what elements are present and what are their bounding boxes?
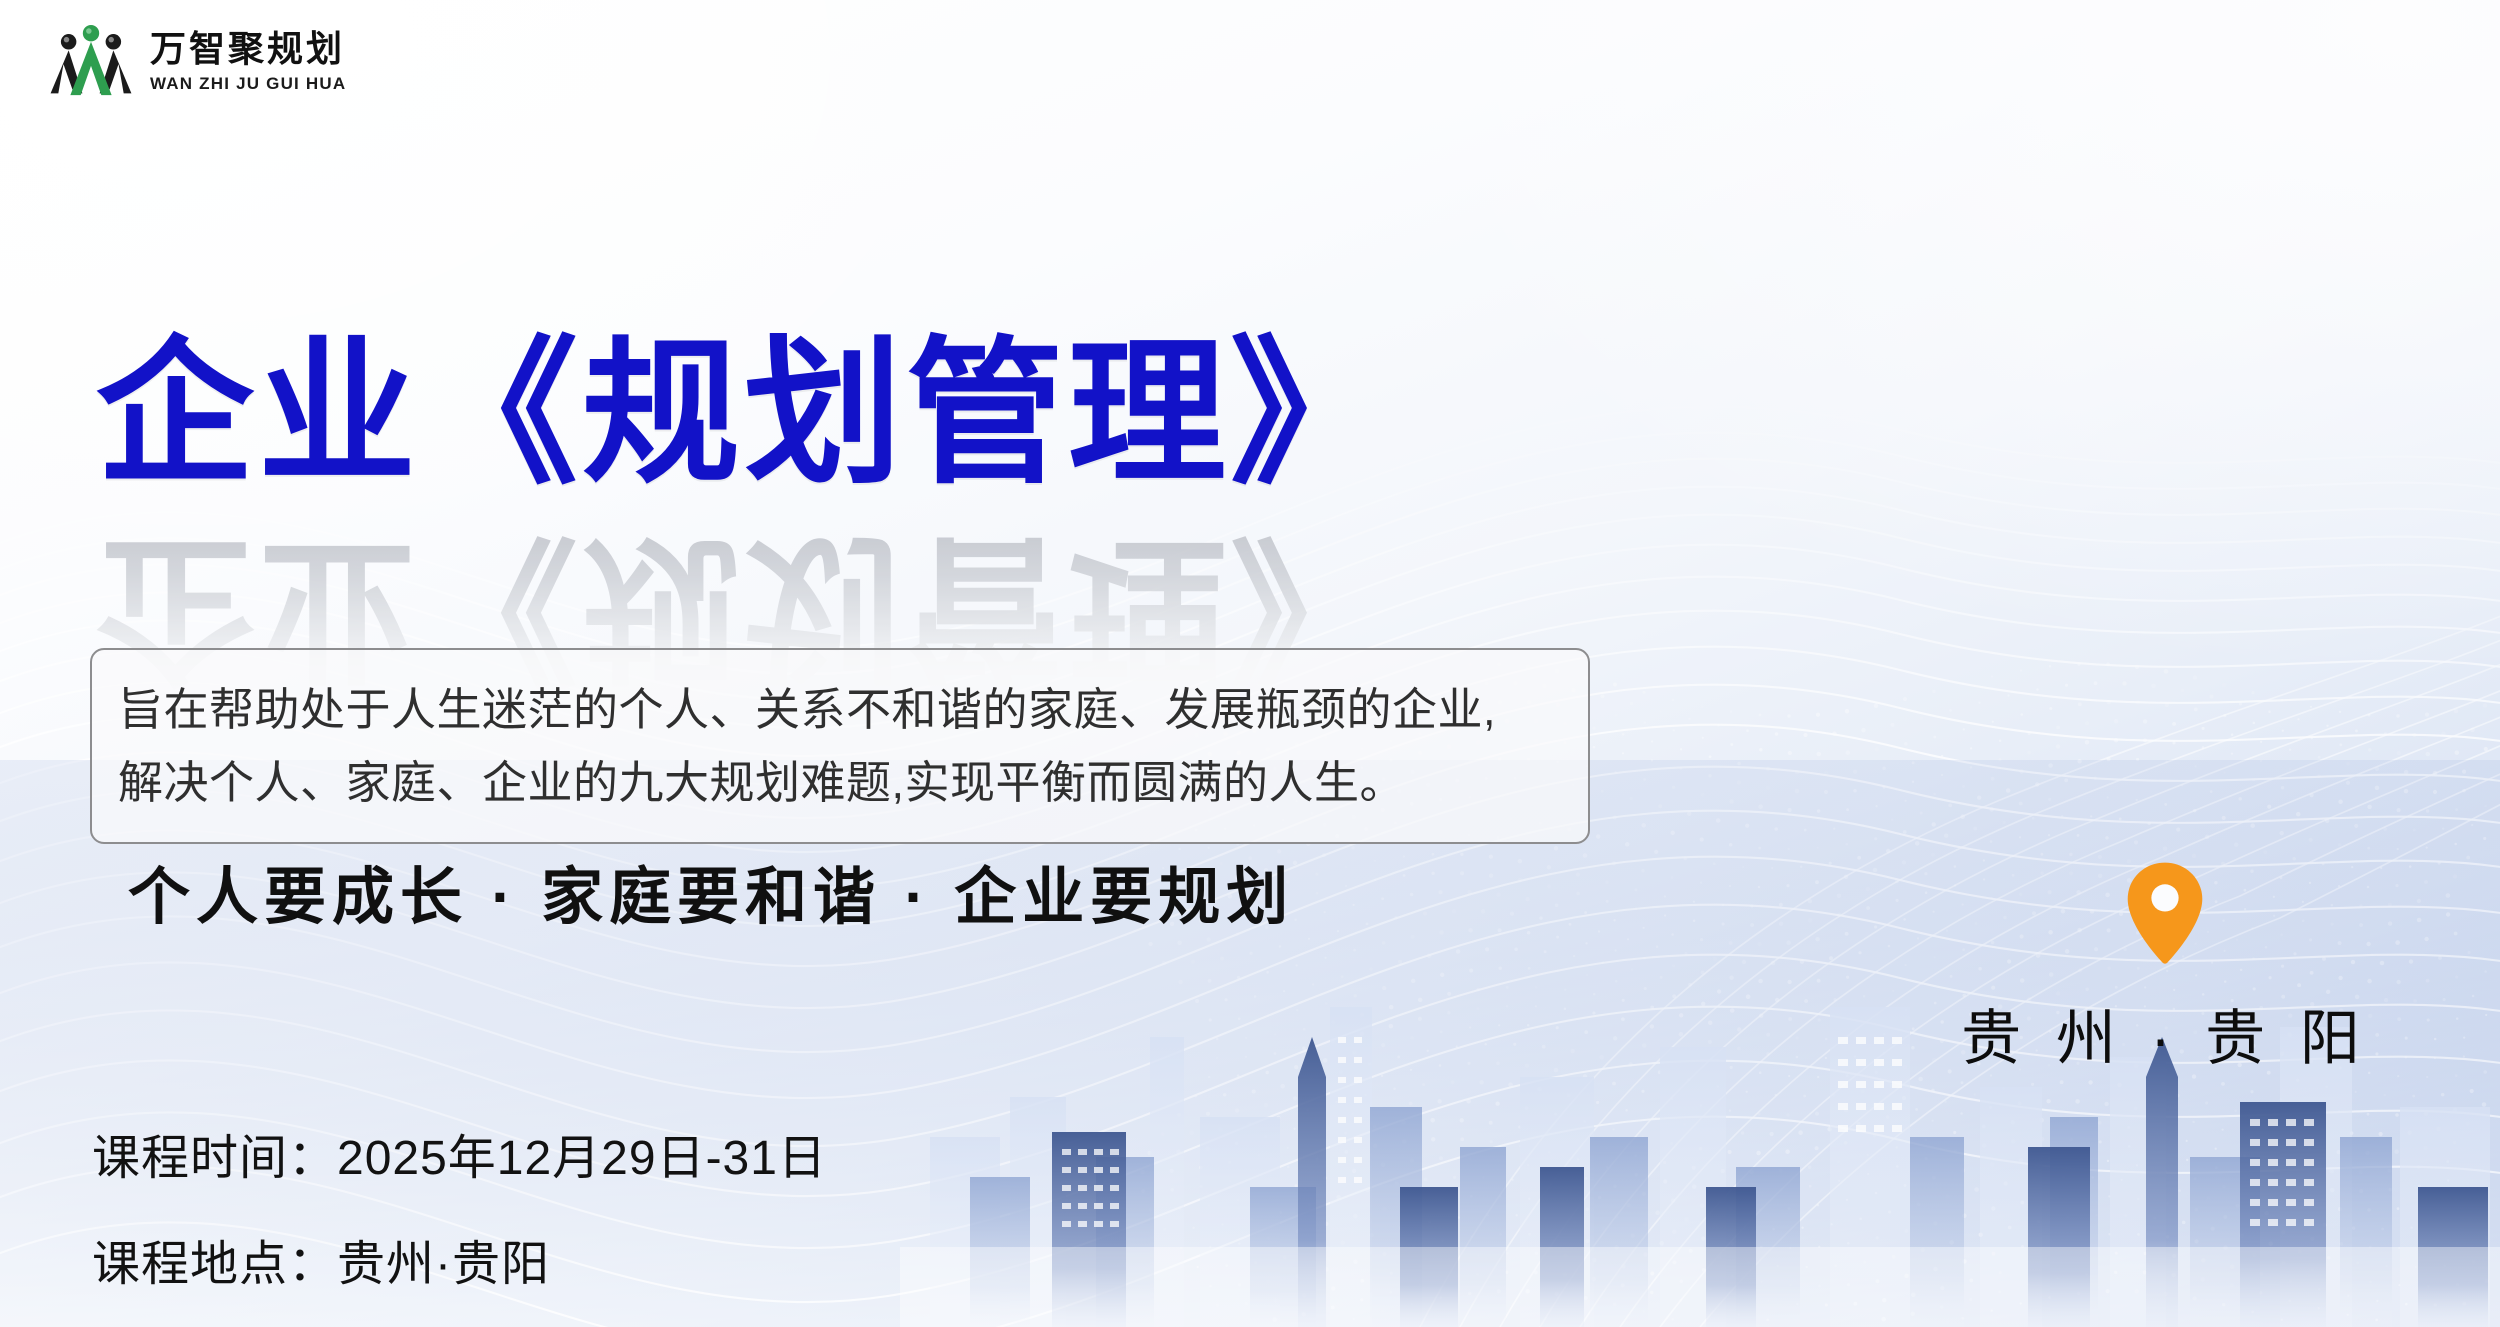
description-line-2: 解决个人、家庭、企业的九大规划难题,实现平衡而圆满的人生。 (118, 747, 1562, 820)
brand-name-en: WAN ZHI JU GUI HUA (150, 75, 346, 92)
course-place: 课程地点：贵州·贵阳 (92, 1224, 827, 1294)
slogan-text: 个人要成长 · 家庭要和谐 · 企业要规划 (128, 846, 1294, 936)
brand-logo-text: 万智聚规划 WAN ZHI JU GUI HUA (150, 27, 346, 92)
course-time: 课程时间：2025年12月29日-31日 (92, 1118, 827, 1188)
description-line-1: 旨在帮助处于人生迷茫的个人、关系不和谐的家庭、发展瓶颈的企业, (118, 674, 1562, 747)
brand-name-cn: 万智聚规划 (150, 31, 346, 67)
hero-title-block: 企业《规划管理》 企业《规划管理》 (96, 318, 1656, 648)
description-box: 旨在帮助处于人生迷茫的个人、关系不和谐的家庭、发展瓶颈的企业, 解决个人、家庭、… (90, 648, 1590, 844)
course-meta: 课程时间：2025年12月29日-31日 课程地点：贵州·贵阳 (92, 1118, 827, 1294)
poster-canvas: 万智聚规划 WAN ZHI JU GUI HUA 企业《规划管理》 企业《规划管… (0, 0, 2500, 1327)
location-label: 贵 州 · 贵 阳 (1961, 990, 2369, 1077)
brand-logo[interactable]: 万智聚规划 WAN ZHI JU GUI HUA (48, 16, 346, 102)
location-badge: 贵 州 · 贵 阳 (1955, 860, 2375, 1077)
page-title: 企业《规划管理》 (96, 318, 1656, 511)
three-people-m-logo-icon (48, 16, 134, 102)
map-pin-icon (2123, 860, 2207, 968)
